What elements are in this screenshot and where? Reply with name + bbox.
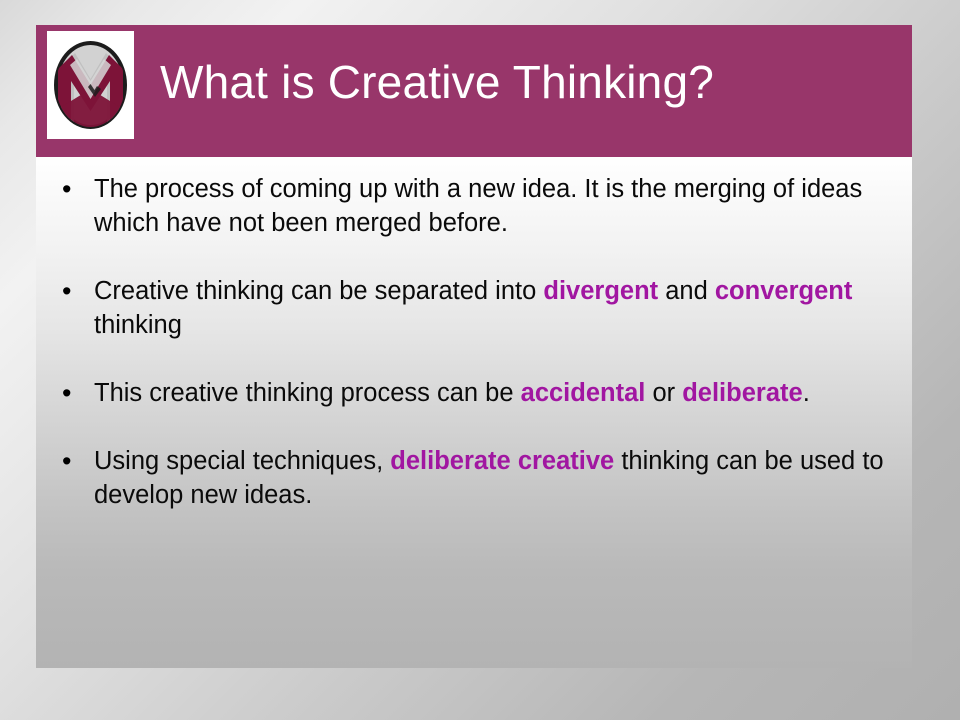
- plain-text: thinking: [94, 311, 182, 339]
- bullet-bullet-divergent-convergent: •Creative thinking can be separated into…: [56, 274, 906, 342]
- bullet-text: Creative thinking can be separated into …: [94, 274, 906, 342]
- plain-text: This creative thinking process can be: [94, 379, 521, 407]
- slide-bullet-list: •The process of coming up with a new ide…: [56, 172, 906, 512]
- bullet-dot-icon: •: [56, 444, 94, 478]
- highlighted-term: accidental: [521, 379, 646, 407]
- highlighted-term: convergent: [715, 277, 852, 305]
- bullet-dot-icon: •: [56, 376, 94, 410]
- slide-title: What is Creative Thinking?: [160, 55, 900, 109]
- bullet-bullet-accidental-deliberate: •This creative thinking process can be a…: [56, 376, 906, 410]
- highlighted-term: deliberate: [682, 379, 802, 407]
- bullet-dot-icon: •: [56, 274, 94, 308]
- bullet-text: This creative thinking process can be ac…: [94, 376, 906, 410]
- m-monogram-icon: [47, 31, 134, 139]
- plain-text: Using special techniques,: [94, 447, 390, 475]
- bullet-text: Using special techniques, deliberate cre…: [94, 444, 906, 512]
- bullet-dot-icon: •: [56, 172, 94, 206]
- highlighted-term: divergent: [543, 277, 658, 305]
- bullet-bullet-special-techniques: •Using special techniques, deliberate cr…: [56, 444, 906, 512]
- plain-text: Creative thinking can be separated into: [94, 277, 543, 305]
- plain-text: .: [803, 379, 810, 407]
- highlighted-term: deliberate creative: [390, 447, 614, 475]
- bullet-text: The process of coming up with a new idea…: [94, 172, 906, 240]
- bullet-bullet-definition: •The process of coming up with a new ide…: [56, 172, 906, 240]
- slide-canvas: What is Creative Thinking? •The process …: [0, 0, 960, 720]
- plain-text: or: [645, 379, 682, 407]
- plain-text: and: [658, 277, 715, 305]
- plain-text: The process of coming up with a new idea…: [94, 175, 862, 237]
- m-monogram-logo: [47, 31, 134, 139]
